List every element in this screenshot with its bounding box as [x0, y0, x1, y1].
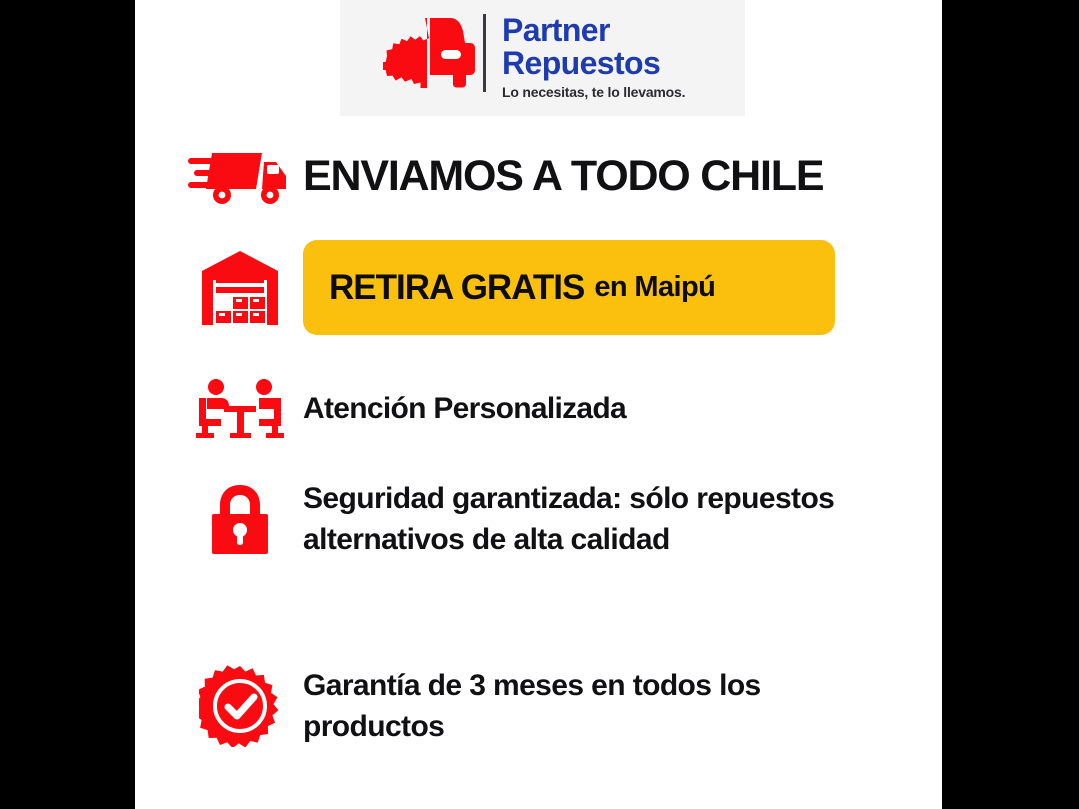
delivery-truck-icon-wrap — [185, 145, 295, 207]
warehouse-icon — [200, 249, 280, 327]
content-panel: Partner Repuestos Lo necesitas, te lo ll… — [135, 0, 942, 809]
letterbox-left — [0, 0, 135, 809]
feature-row-attention: Atención Personalizada — [185, 378, 945, 440]
feature-text-shipping: ENVIAMOS A TODO CHILE — [295, 152, 823, 200]
verified-badge-check-icon — [199, 665, 281, 747]
people-at-table-icon-wrap — [185, 378, 295, 440]
warehouse-icon-wrap — [185, 249, 295, 327]
brand-tagline: Lo necesitas, te lo llevamos. — [502, 84, 685, 100]
brand-logo[interactable]: Partner Repuestos Lo necesitas, te lo ll… — [383, 14, 685, 100]
promo-banner: Partner Repuestos Lo necesitas, te lo ll… — [0, 0, 1079, 809]
feature-text-pickup-soft: en Maipú — [594, 271, 715, 304]
logo-divider — [483, 14, 486, 92]
brand-name-line-1: Partner — [502, 14, 685, 47]
feature-text-security: Seguridad garantizada: sólo repuestos al… — [295, 478, 873, 560]
feature-row-pickup: RETIRA GRATIS en Maipú — [185, 240, 985, 335]
feature-text-attention: Atención Personalizada — [295, 391, 626, 427]
feature-text-pickup-strong: RETIRA GRATIS — [329, 268, 584, 308]
padlock-icon — [207, 481, 273, 557]
delivery-truck-icon — [188, 145, 292, 207]
gear-car-logo-icon — [383, 14, 475, 92]
feature-row-warranty: Garantía de 3 meses en todos los product… — [185, 665, 965, 747]
logo-wordmark: Partner Repuestos Lo necesitas, te lo ll… — [502, 14, 685, 100]
feature-text-warranty: Garantía de 3 meses en todos los product… — [295, 665, 903, 747]
people-at-table-icon — [194, 378, 286, 440]
brand-name-line-2: Repuestos — [502, 47, 685, 80]
feature-row-shipping: ENVIAMOS A TODO CHILE — [185, 145, 945, 207]
padlock-icon-wrap — [185, 481, 295, 557]
verified-badge-check-icon-wrap — [185, 665, 295, 747]
feature-row-security: Seguridad garantizada: sólo repuestos al… — [185, 478, 945, 560]
pickup-highlight-badge[interactable]: RETIRA GRATIS en Maipú — [303, 240, 835, 335]
